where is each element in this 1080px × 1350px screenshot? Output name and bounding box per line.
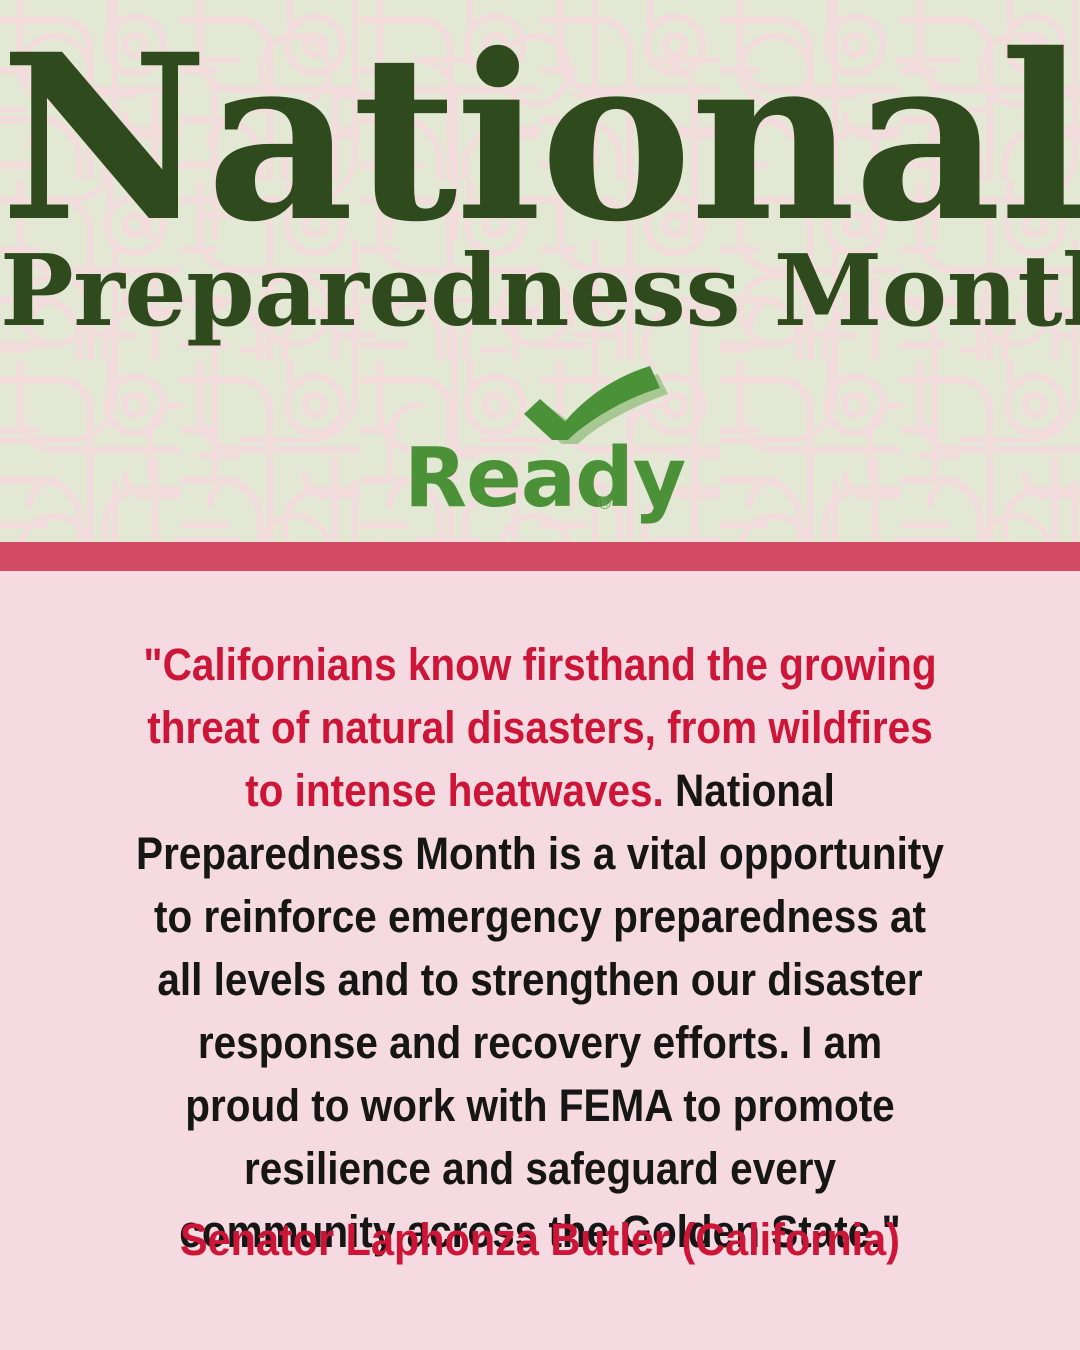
national-preparedness-month-poster: National Preparedness Month Ready ® "Cal…: [0, 0, 1080, 1350]
registered-trademark-icon: ®: [596, 496, 613, 513]
quote-panel: "Californians know firsthand the growing…: [0, 571, 1080, 1350]
ready-wordmark: Ready: [404, 438, 685, 520]
hero-panel: National Preparedness Month Ready ®: [0, 0, 1080, 542]
quote-attribution: Senator Laphonza Butler (California): [126, 1212, 954, 1267]
quote-body: National Preparedness Month is a vital o…: [136, 765, 944, 1257]
ready-logo: Ready ®: [390, 366, 690, 516]
section-divider: [0, 542, 1080, 571]
page-title-line-2: Preparedness Month: [0, 243, 1080, 341]
quote-text: "Californians know firsthand the growing…: [135, 633, 945, 1263]
page-title-line-1: National: [0, 24, 1080, 252]
